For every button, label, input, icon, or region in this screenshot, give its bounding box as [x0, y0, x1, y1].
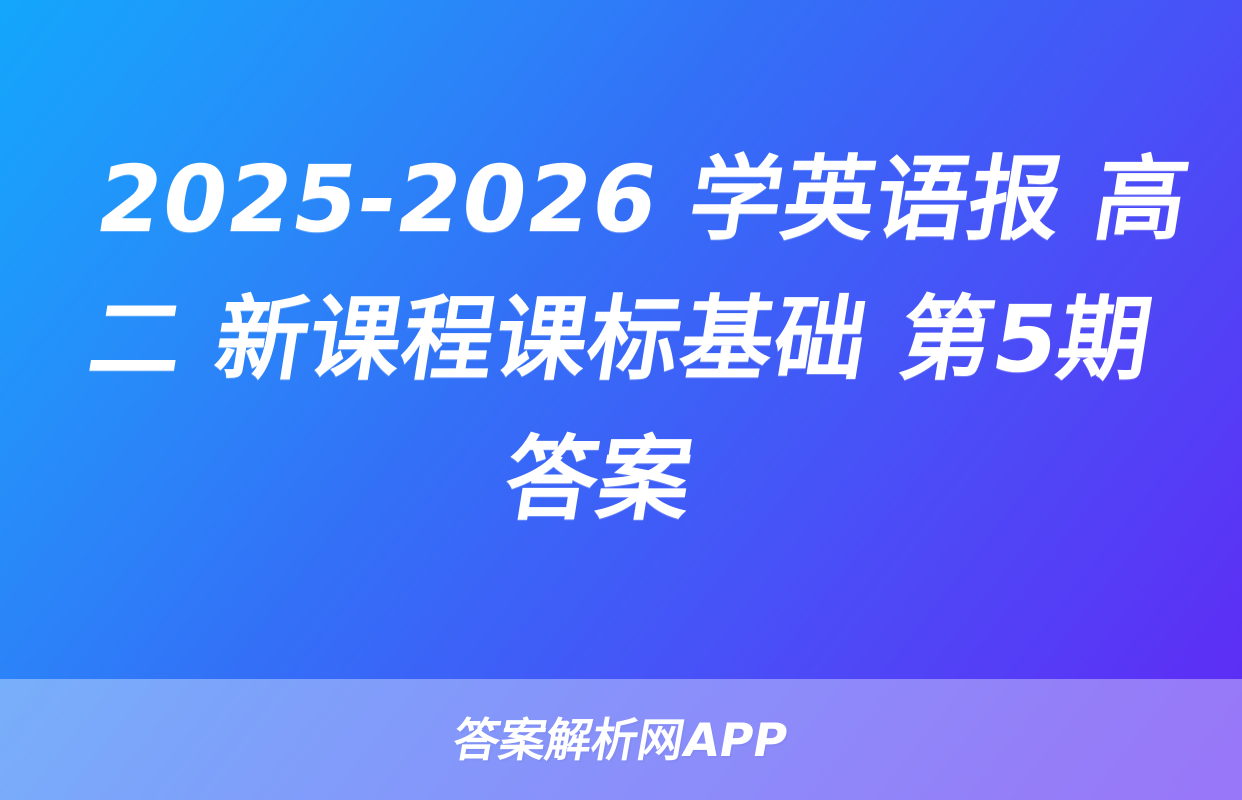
- footer-brand-band: 答案解析网APP: [0, 679, 1242, 800]
- page-title: 2025-2026 学英语报 高二 新课程课标基础 第5期答案: [37, 130, 1206, 550]
- app-brand-label: 答案解析网APP: [450, 717, 791, 763]
- answer-cover-poster: 2025-2026 学英语报 高二 新课程课标基础 第5期答案 答案解析网APP: [0, 0, 1242, 800]
- footer-edge-right: [1232, 679, 1237, 800]
- footer-edge-left: [5, 679, 10, 800]
- title-area: 2025-2026 学英语报 高二 新课程课标基础 第5期答案: [0, 0, 1242, 679]
